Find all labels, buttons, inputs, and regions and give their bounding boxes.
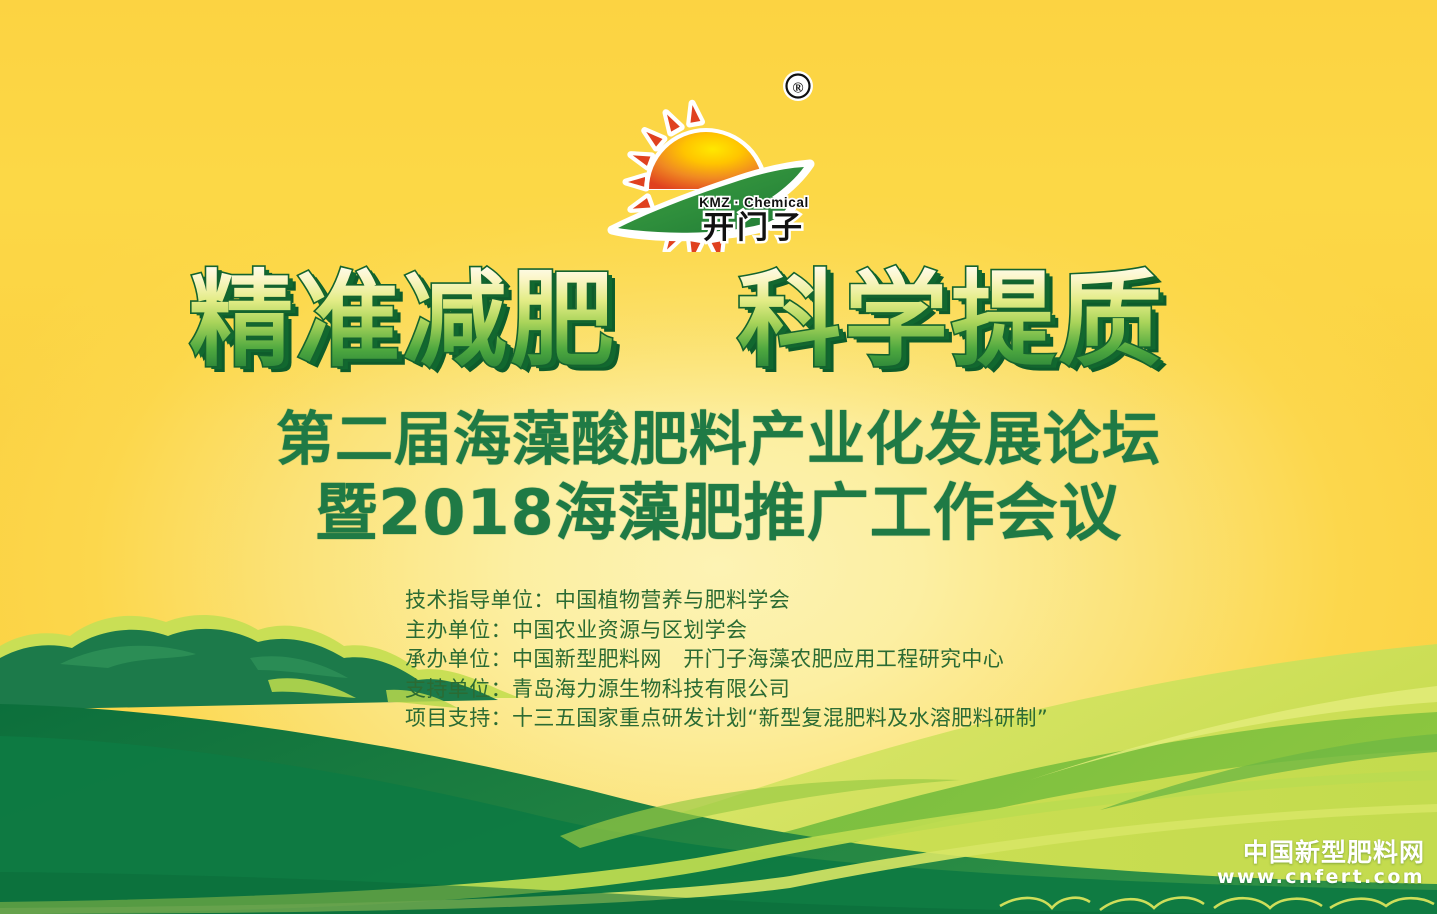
organizer-line-organizer: 承办单位：中国新型肥料网 开门子海藻农肥应用工程研究中心	[405, 645, 1048, 675]
logo-brand-latin: KMZ · Chemical	[699, 195, 809, 210]
headline: 精准减肥 科学提质 精准减肥 科学提质 精准减肥 科学提质	[0, 268, 1437, 380]
registered-mark-letter: ®	[792, 81, 803, 97]
watermark-url: www.cnfert.com	[1217, 868, 1425, 888]
organizer-line-host: 主办单位：中国农业资源与区划学会	[405, 616, 1048, 646]
organizer-line-supporter: 支持单位：青岛海力源生物科技有限公司	[405, 675, 1048, 705]
subtitle-line-2: 暨2018海藻肥推广工作会议	[0, 482, 1437, 544]
headline-part-1: 精准减肥	[189, 259, 617, 381]
company-logo[interactable]: ® KMZ · Chemical 开门子	[604, 62, 834, 252]
organizer-list: 技术指导单位：中国植物营养与肥料学会 主办单位：中国农业资源与区划学会 承办单位…	[405, 586, 1048, 734]
conference-poster: ® KMZ · Chemical 开门子 精准减肥	[0, 0, 1437, 914]
organizer-line-technical-guidance: 技术指导单位：中国植物营养与肥料学会	[405, 586, 1048, 616]
organizer-line-project-support: 项目支持：十三五国家重点研发计划“新型复混肥料及水溶肥料研制”	[405, 704, 1048, 734]
registered-mark-icon: ®	[783, 71, 813, 101]
logo-brand-cn: 开门子	[703, 210, 805, 246]
subtitle-line-1: 第二届海藻酸肥料产业化发展论坛	[0, 410, 1437, 468]
site-watermark[interactable]: 中国新型肥料网 www.cnfert.com	[1217, 840, 1425, 888]
watermark-site-name: 中国新型肥料网	[1217, 840, 1425, 866]
headline-part-2: 科学提质	[737, 259, 1165, 381]
